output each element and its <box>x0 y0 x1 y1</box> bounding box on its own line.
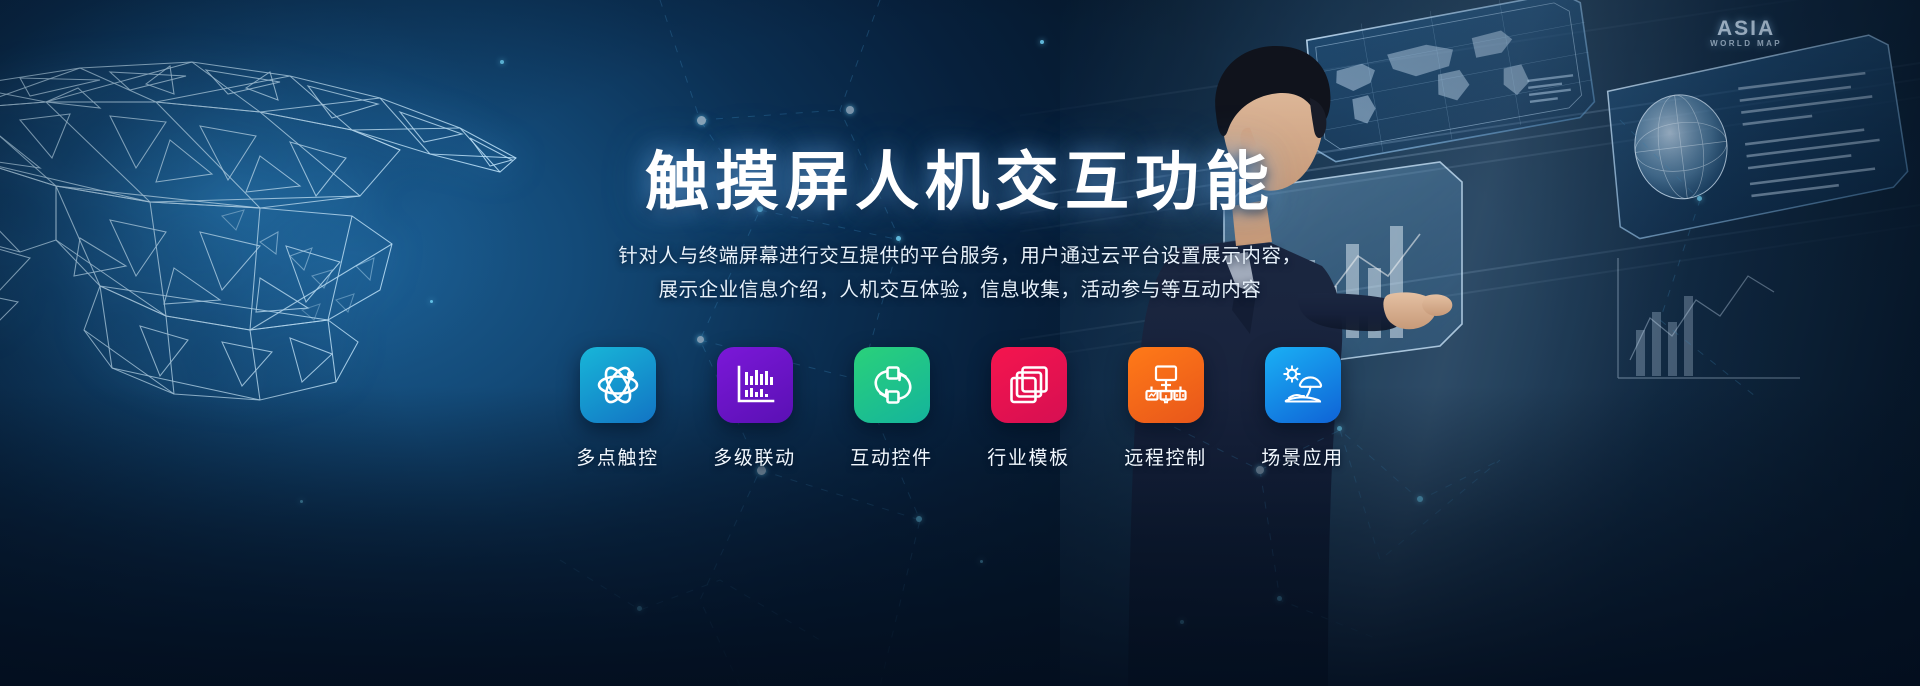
feature-item-multilevel-linkage[interactable]: 多级联动 <box>707 347 802 470</box>
feature-item-remote-control[interactable]: 远程控制 <box>1118 347 1213 470</box>
feature-tile-scene-application[interactable] <box>1265 347 1341 423</box>
page-title: 触摸屏人机交互功能 <box>645 150 1275 214</box>
page-subtitle: 针对人与终端屏幕进行交互提供的平台服务，用户通过云平台设置展示内容， 展示企业信… <box>618 240 1301 307</box>
feature-label-multilevel-linkage: 多级联动 <box>713 443 795 470</box>
subtitle-line-1: 针对人与终端屏幕进行交互提供的平台服务，用户通过云平台设置展示内容， <box>618 240 1301 274</box>
touchscreen-hmi-banner: ASIA WORLD MAP <box>0 0 1920 686</box>
feature-tile-remote-control[interactable] <box>1128 347 1204 423</box>
feature-label-scene-application: 场景应用 <box>1261 443 1343 470</box>
layers-stack-icon <box>1008 364 1050 406</box>
feature-label-multitouch: 多点触控 <box>576 443 658 470</box>
feature-tile-interactive-widgets[interactable] <box>854 347 930 423</box>
feature-tile-industry-templates[interactable] <box>991 347 1067 423</box>
feature-list: 多点触控 <box>570 347 1350 470</box>
feature-item-scene-application[interactable]: 场景应用 <box>1255 347 1350 470</box>
atom-icon <box>595 362 641 408</box>
feature-item-interactive-widgets[interactable]: 互动控件 <box>844 347 939 470</box>
feature-item-multitouch[interactable]: 多点触控 <box>570 347 665 470</box>
subtitle-line-2: 展示企业信息介绍，人机交互体验，信息收集，活动参与等互动内容 <box>618 274 1301 308</box>
feature-label-interactive-widgets: 互动控件 <box>850 443 932 470</box>
remote-monitor-icon <box>1144 364 1188 406</box>
sync-nodes-icon <box>870 363 914 407</box>
feature-label-remote-control: 远程控制 <box>1124 443 1206 470</box>
banner-content: 触摸屏人机交互功能 针对人与终端屏幕进行交互提供的平台服务，用户通过云平台设置展… <box>0 0 1920 686</box>
feature-label-industry-templates: 行业模板 <box>987 443 1069 470</box>
bar-chart-icon <box>733 363 777 407</box>
beach-scene-icon <box>1280 364 1326 406</box>
feature-tile-multilevel-linkage[interactable] <box>717 347 793 423</box>
feature-tile-multitouch[interactable] <box>580 347 656 423</box>
feature-item-industry-templates[interactable]: 行业模板 <box>981 347 1076 470</box>
